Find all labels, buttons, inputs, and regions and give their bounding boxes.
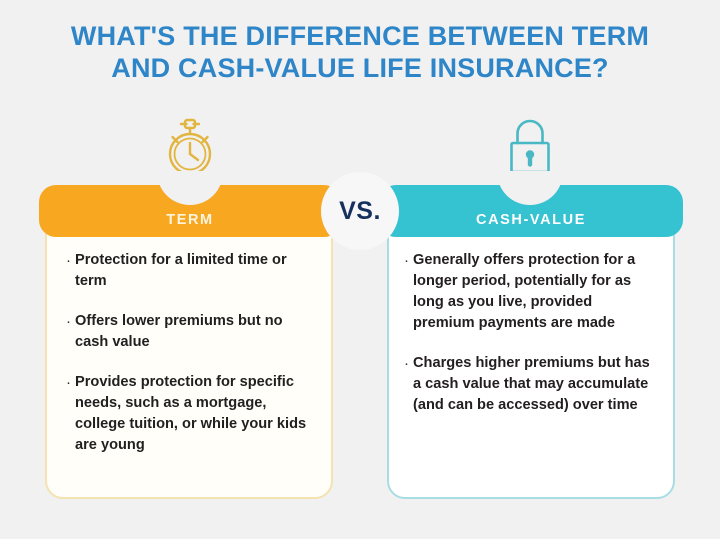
bullet-text: Offers lower premiums but no cash value [75, 311, 316, 353]
list-item: · Charges higher premiums but has a cash… [404, 353, 654, 416]
page-title: WHAT'S THE DIFFERENCE BETWEEN TERM AND C… [0, 20, 720, 84]
infographic-canvas: WHAT'S THE DIFFERENCE BETWEEN TERM AND C… [0, 0, 720, 539]
title-line-1: WHAT'S THE DIFFERENCE BETWEEN TERM [24, 20, 696, 52]
header-label-cash-value: CASH-VALUE [476, 212, 586, 228]
bullet-marker-icon: · [66, 372, 75, 393]
header-label-term: TERM [166, 212, 213, 228]
bullet-marker-icon: · [404, 353, 413, 374]
bullet-text: Generally offers protection for a longer… [413, 250, 654, 334]
list-item: · Protection for a limited time or term [66, 250, 316, 292]
bullet-marker-icon: · [66, 311, 75, 332]
bullet-text: Charges higher premiums but has a cash v… [413, 353, 654, 416]
bullet-marker-icon: · [66, 250, 75, 271]
list-item: · Provides protection for specific needs… [66, 372, 316, 456]
versus-badge: VS. [321, 172, 399, 250]
bullet-list-cash-value: · Generally offers protection for a long… [404, 250, 654, 435]
title-line-2: AND CASH-VALUE LIFE INSURANCE? [24, 52, 696, 84]
bullet-list-term: · Protection for a limited time or term … [66, 250, 316, 475]
bullet-marker-icon: · [404, 250, 413, 271]
list-item: · Generally offers protection for a long… [404, 250, 654, 334]
list-item: · Offers lower premiums but no cash valu… [66, 311, 316, 353]
bullet-text: Provides protection for specific needs, … [75, 372, 316, 456]
versus-label: VS. [339, 197, 381, 226]
bullet-text: Protection for a limited time or term [75, 250, 316, 292]
